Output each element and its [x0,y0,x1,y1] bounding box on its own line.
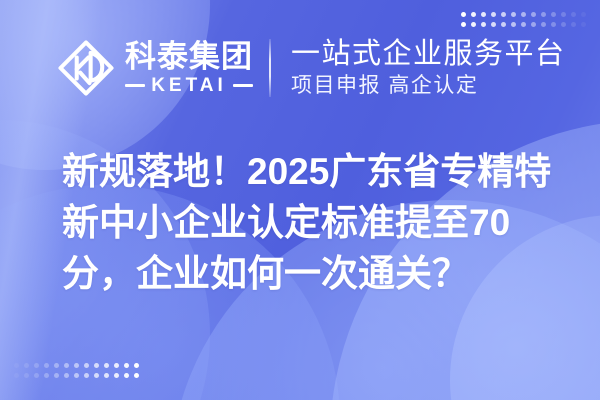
logo-dash-left [125,84,145,87]
brand-wordmark: 科泰集团 KETAI [125,40,253,96]
dot-pattern-bottom-left [14,363,139,378]
dot [54,363,59,368]
dot [94,373,99,378]
dot [114,373,119,378]
brand-name-cn: 科泰集团 [125,40,253,74]
slogan-primary: 一站式企业服务平台 [291,38,566,71]
dot [44,363,49,368]
promo-banner: 科泰集团 KETAI 一站式企业服务平台 项目申报 高企认定 新规落地！2025… [0,0,600,400]
brand-name-en: KETAI [151,76,227,96]
dot [14,373,19,378]
banner-header: 科泰集团 KETAI 一站式企业服务平台 项目申报 高企认定 [0,0,600,135]
dot [44,373,49,378]
dot [24,363,29,368]
dot [94,363,99,368]
dot [74,363,79,368]
dot [104,373,109,378]
brand-name-en-row: KETAI [125,76,253,96]
dot [64,373,69,378]
dot [124,373,129,378]
dot [84,363,89,368]
dot [74,373,79,378]
dot-row [14,373,139,378]
dot [64,363,69,368]
dot-row [14,363,139,368]
dot [34,363,39,368]
dot [124,363,129,368]
logo-dash-right [233,84,253,87]
dot [134,363,139,368]
dot [114,363,119,368]
dot [34,373,39,378]
slogan-secondary: 项目申报 高企认定 [291,74,566,98]
dot [14,363,19,368]
dot [104,363,109,368]
dot [54,373,59,378]
dot [84,373,89,378]
slogan-block: 一站式企业服务平台 项目申报 高企认定 [291,38,566,98]
dot [24,373,29,378]
dot [134,373,139,378]
ketai-diamond-logo-icon [57,39,115,97]
brand-logo[interactable]: 科泰集团 KETAI [57,39,253,97]
headline-text: 新规落地！2025广东省专精特新中小企业认定标准提至70分，企业如何一次通关？ [62,146,572,299]
header-divider [269,39,271,97]
